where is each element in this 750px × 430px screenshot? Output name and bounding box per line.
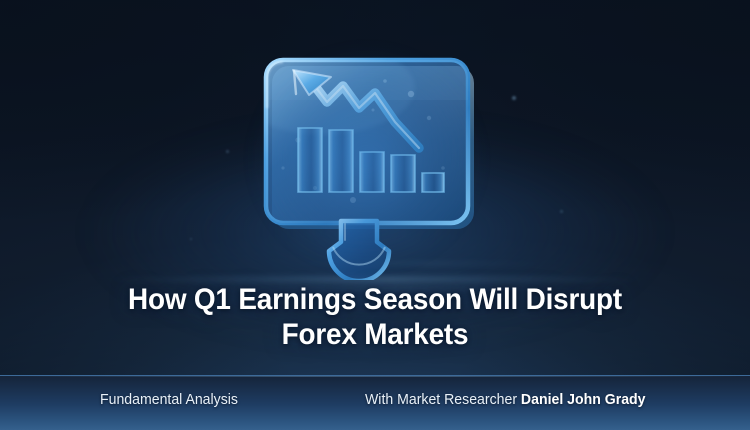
page-title: How Q1 Earnings Season Will Disrupt Fore… (26, 282, 724, 352)
footer-credit-prefix: With Market Researcher (365, 391, 521, 408)
thumbnail-canvas: How Q1 Earnings Season Will Disrupt Fore… (0, 0, 750, 430)
footer-credit-name: Daniel John Grady (521, 391, 646, 408)
icon-glow (217, 14, 517, 304)
footer-credit: With Market Researcher Daniel John Grady (365, 390, 646, 410)
bokeh-particle (190, 238, 192, 240)
footer-category: Fundamental Analysis (100, 390, 238, 410)
hero-icon (253, 48, 481, 280)
bokeh-particle (560, 210, 563, 213)
footer-bar: Fundamental Analysis With Market Researc… (0, 375, 750, 430)
